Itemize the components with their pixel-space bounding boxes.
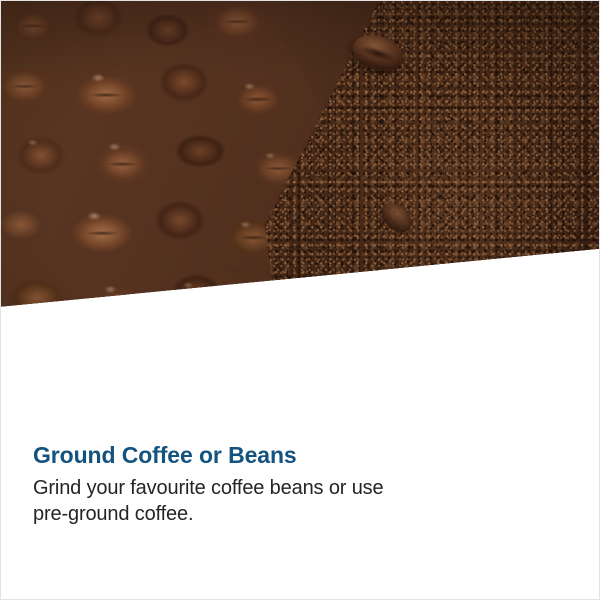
caption-panel: Ground Coffee or Beans Grind your favour… [1, 337, 599, 599]
caption-content: Ground Coffee or Beans Grind your favour… [33, 443, 571, 527]
page-title: Ground Coffee or Beans [33, 443, 571, 469]
caption-description: Grind your favourite coffee beans or use… [33, 475, 393, 527]
coffee-feature-card: Ground Coffee or Beans Grind your favour… [0, 0, 600, 600]
stray-coffee-bean-icon [425, 259, 478, 308]
